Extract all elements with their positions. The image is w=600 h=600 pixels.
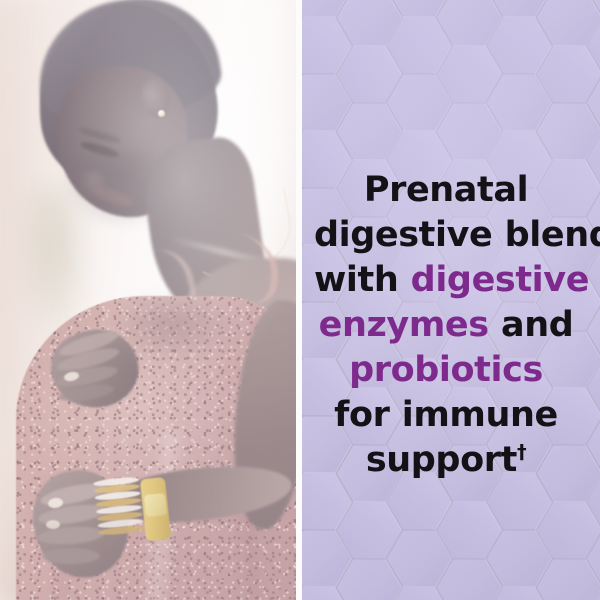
hero-photo: [0, 0, 297, 600]
headline-text: and: [489, 305, 574, 345]
pregnant-woman-figure: [0, 0, 297, 600]
headline-line-5: probiotics: [314, 348, 578, 393]
footnote-dagger-symbol: †: [517, 440, 526, 463]
headline-text: for immune: [334, 395, 558, 435]
headline-line-2: digestive blend: [314, 213, 578, 258]
headline-accent-probiotics: probiotics: [349, 350, 543, 390]
stud-earring: [158, 110, 165, 117]
headline-text: support: [366, 440, 517, 480]
gold-bangles: [93, 474, 146, 544]
headline-text: digestive blend: [314, 215, 600, 255]
headline-accent-digestive: digestive: [411, 260, 589, 300]
headline-accent-enzymes: enzymes: [319, 305, 489, 345]
headline-line-1: Prenatal: [314, 168, 578, 213]
text-panel: Prenatal digestive blend with digestive …: [302, 0, 600, 600]
headline-line-3: with digestive: [314, 258, 578, 303]
watch-face: [144, 493, 167, 517]
headline-line-7: support†: [314, 438, 578, 483]
headline-line-6: for immune: [314, 393, 578, 438]
headline-line-4: enzymes and: [314, 303, 578, 348]
headline-text: with: [314, 260, 411, 300]
ring: [46, 520, 60, 529]
marketing-card: Prenatal digestive blend with digestive …: [0, 0, 600, 600]
finger: [42, 548, 100, 564]
headline: Prenatal digestive blend with digestive …: [314, 168, 578, 483]
headline-text: Prenatal: [364, 170, 528, 210]
